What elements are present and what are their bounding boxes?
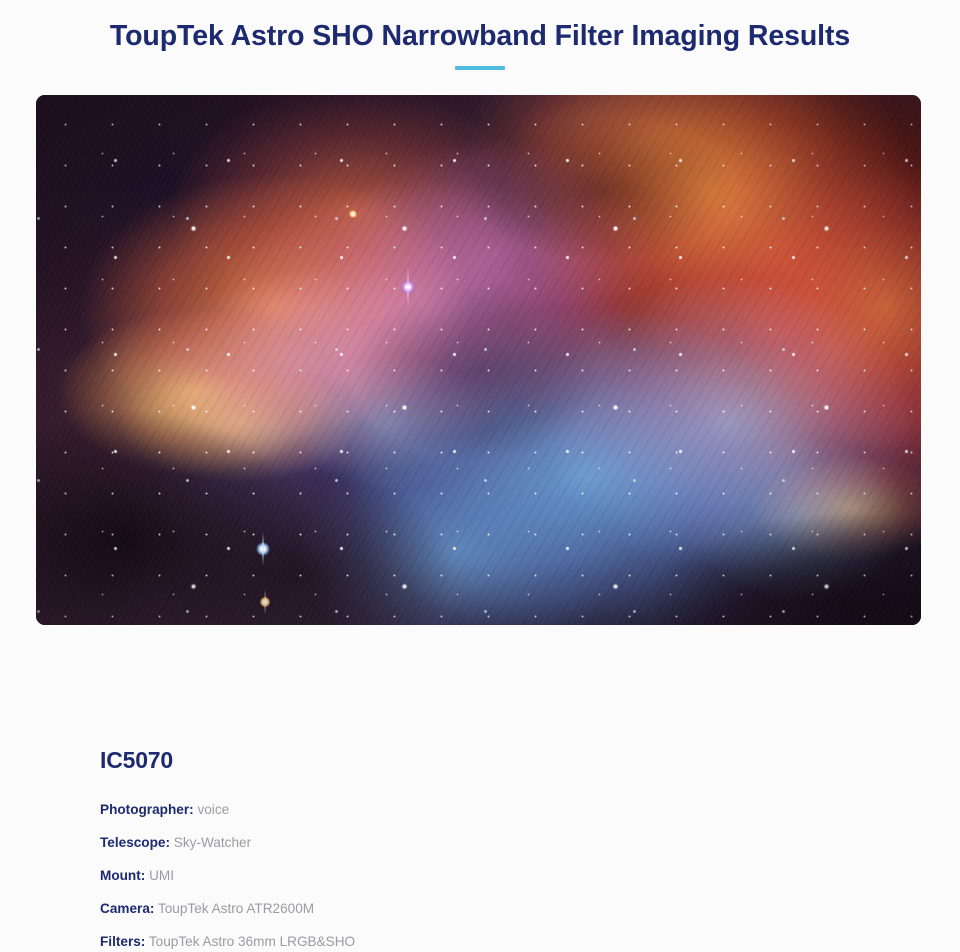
metadata-label-mount: Mount: bbox=[100, 868, 145, 883]
metadata-row-camera: Camera: ToupTek Astro ATR2600M bbox=[100, 892, 900, 925]
metadata-label-camera: Camera: bbox=[100, 901, 154, 916]
metadata-value-mount: UMI bbox=[149, 868, 174, 883]
object-name: IC5070 bbox=[100, 747, 900, 774]
metadata-value-photographer: voice bbox=[197, 802, 229, 817]
metadata-label-photographer: Photographer: bbox=[100, 802, 194, 817]
metadata-value-filters: ToupTek Astro 36mm LRGB&SHO bbox=[149, 934, 355, 949]
metadata-label-telescope: Telescope: bbox=[100, 835, 170, 850]
photo-details: IC5070 Photographer: voice Telescope: Sk… bbox=[100, 747, 900, 952]
metadata-row-photographer: Photographer: voice bbox=[100, 793, 900, 826]
page-root: ToupTek Astro SHO Narrowband Filter Imag… bbox=[0, 0, 960, 952]
metadata-row-filters: Filters: ToupTek Astro 36mm LRGB&SHO bbox=[100, 925, 900, 952]
title-underline-wrap bbox=[0, 66, 960, 70]
nebula-vignette-layer bbox=[36, 95, 921, 625]
nebula-photograph[interactable] bbox=[36, 95, 921, 625]
metadata-value-camera: ToupTek Astro ATR2600M bbox=[158, 901, 314, 916]
metadata-label-filters: Filters: bbox=[100, 934, 145, 949]
page-title: ToupTek Astro SHO Narrowband Filter Imag… bbox=[0, 19, 960, 55]
metadata-value-telescope: Sky-Watcher bbox=[174, 835, 251, 850]
metadata-list: Photographer: voice Telescope: Sky-Watch… bbox=[100, 793, 900, 952]
title-underline-accent bbox=[455, 66, 505, 70]
result-card: IC5070 Photographer: voice Telescope: Sk… bbox=[36, 95, 921, 625]
metadata-row-telescope: Telescope: Sky-Watcher bbox=[100, 826, 900, 859]
page-header: ToupTek Astro SHO Narrowband Filter Imag… bbox=[0, 0, 960, 70]
metadata-row-mount: Mount: UMI bbox=[100, 859, 900, 892]
